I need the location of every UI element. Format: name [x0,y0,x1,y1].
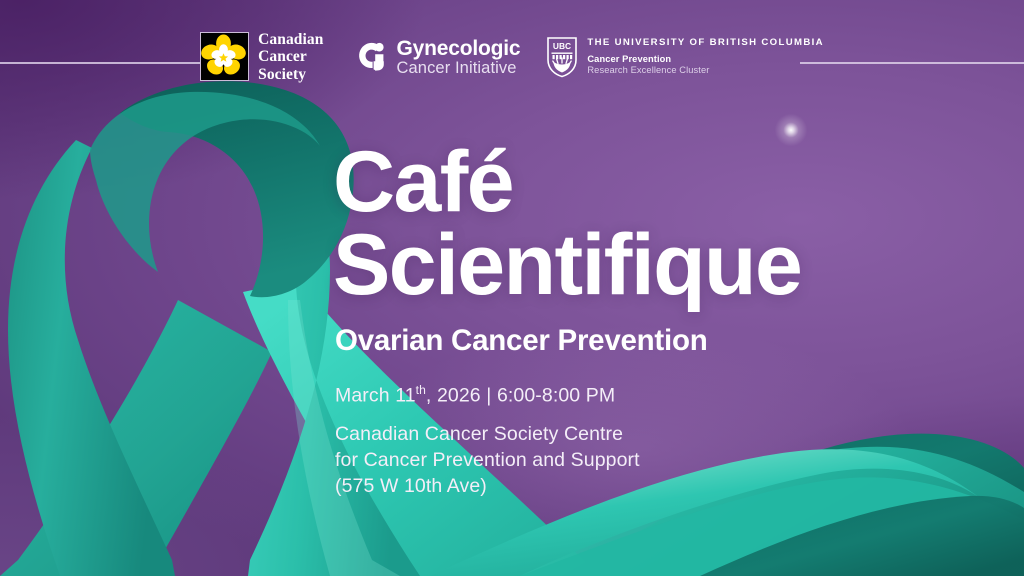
ubc-shield-icon: UBC [546,36,578,78]
venue-line-1: Canadian Cancer Society Centre [335,422,953,448]
ccs-line-3: Society [258,66,306,83]
ccs-line-2: Cancer [258,48,307,65]
logo-ubc-cancer-prevention: UBC [546,36,824,78]
event-content: Café Scientifique Ovarian Cancer Prevent… [333,141,953,500]
gci-title: Gynecologic [397,38,521,59]
date-prefix: March 11 [335,384,416,406]
title-line-1: Café [333,141,953,224]
event-venue: Canadian Cancer Society Centre for Cance… [335,422,953,499]
gci-wordmark: Gynecologic Cancer Initiative [397,38,521,77]
event-subtitle: Ovarian Cancer Prevention [335,324,953,358]
ubc-cluster-line: Research Excellence Cluster [587,66,824,75]
title-line-2: Scientifique [333,224,953,307]
daffodil-icon [200,32,249,81]
logo-gynecologic-cancer-initiative: Gynecologic Cancer Initiative [355,38,521,77]
gci-monogram-icon [355,39,389,75]
ubc-unit-line: Cancer Prevention [587,55,824,64]
date-suffix: , 2026 | 6:00-8:00 PM [426,384,615,406]
page-title: Café Scientifique [333,141,953,308]
gci-subtitle: Cancer Initiative [397,60,521,77]
svg-text:UBC: UBC [553,41,571,51]
venue-line-2: for Cancer Prevention and Support [335,448,953,474]
logo-canadian-cancer-society: Canadian Cancer Society [200,31,323,83]
ccs-line-1: Canadian [258,31,323,48]
ubc-university-line: THE UNIVERSITY OF BRITISH COLUMBIA [587,38,824,48]
logo-row: Canadian Cancer Society Gynecologic Canc… [0,27,1024,87]
event-datetime: March 11th, 2026 | 6:00-8:00 PM [335,383,953,407]
ubc-wordmark: THE UNIVERSITY OF BRITISH COLUMBIA Cance… [587,38,824,75]
venue-line-3: (575 W 10th Ave) [335,474,953,500]
date-ordinal: th [416,383,426,397]
poster-canvas: Canadian Cancer Society Gynecologic Canc… [0,0,1024,576]
ccs-wordmark: Canadian Cancer Society [258,31,323,83]
